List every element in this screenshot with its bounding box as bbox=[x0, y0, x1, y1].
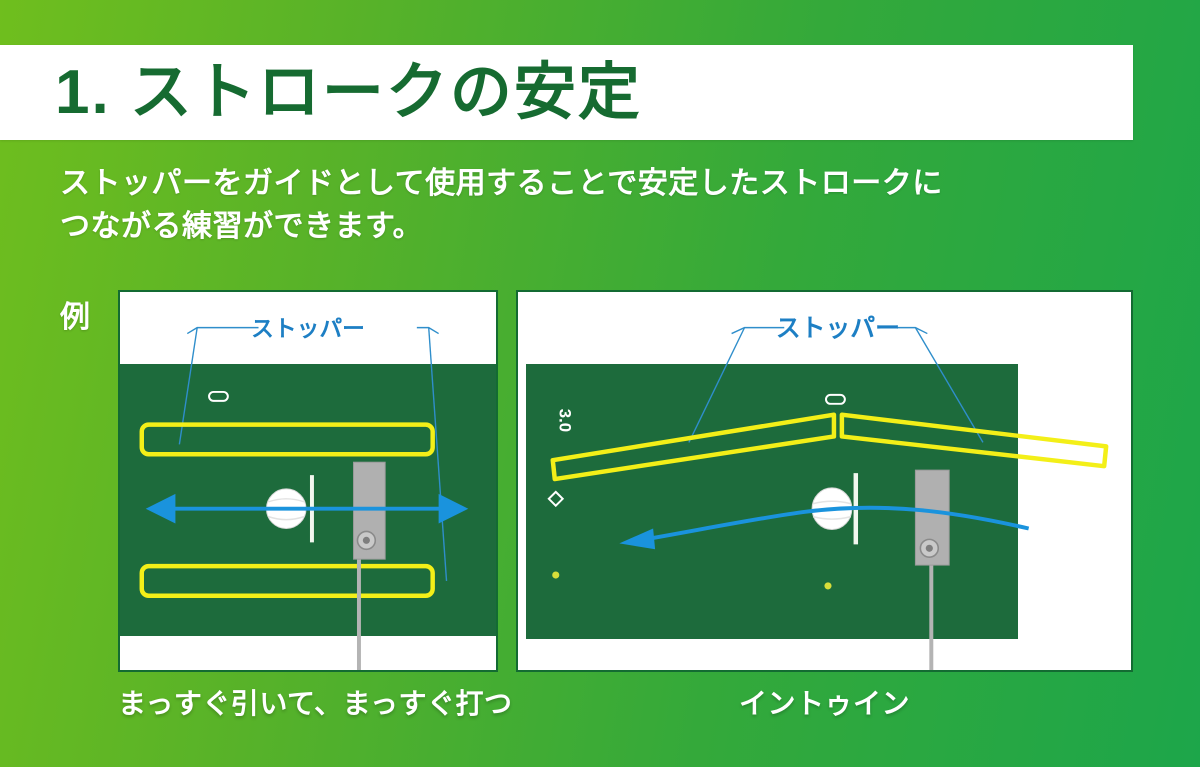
leader-tick-right bbox=[417, 328, 439, 334]
stroke-arrow-left bbox=[146, 494, 469, 524]
arrowhead-right bbox=[439, 494, 469, 524]
subtitle-line-1: ストッパーをガイドとして使用することで安定したストロークに bbox=[60, 163, 1130, 206]
caption-arc: イントゥイン bbox=[516, 682, 1133, 722]
stopper-rail-bottom bbox=[142, 566, 433, 596]
right-diagram-svg: 3.0 bbox=[518, 292, 1131, 670]
arrowhead-left bbox=[146, 494, 176, 524]
diamond-marker-right bbox=[549, 492, 563, 506]
slide-root: 1. ストロークの安定 ストッパーをガイドとして使用することで安定したストローク… bbox=[0, 0, 1200, 767]
page-title: 1. ストロークの安定 bbox=[55, 62, 642, 124]
leader-line-to-top-stopper bbox=[179, 328, 197, 445]
putter-hosel-dot-right bbox=[926, 545, 933, 552]
diagram-panel-straight: ストッパー bbox=[118, 290, 498, 672]
putter-right bbox=[915, 470, 949, 670]
oval-hole-marker-left bbox=[209, 392, 228, 401]
stopper-rail-angled-left bbox=[553, 415, 834, 479]
callout-label-right: ストッパー bbox=[776, 315, 900, 343]
arrowhead-arc bbox=[619, 528, 655, 549]
leader-tick-left bbox=[187, 328, 258, 334]
callout-label-left: ストッパー bbox=[251, 316, 365, 342]
panel-left-inner: ストッパー bbox=[120, 292, 496, 670]
subtitle-line-2: つながる練習ができます。 bbox=[60, 206, 1130, 249]
putter-hosel-dot-left bbox=[363, 537, 370, 544]
putter-shaft-right bbox=[929, 557, 933, 670]
panel-right-inner: 3.0 bbox=[518, 292, 1131, 670]
example-label: 例 bbox=[60, 292, 90, 336]
dot-marker-b bbox=[824, 582, 831, 589]
dot-marker-a bbox=[552, 571, 559, 578]
stopper-rail-top bbox=[142, 425, 433, 455]
caption-straight: まっすぐ引いて、まっすぐ打つ bbox=[118, 682, 498, 722]
title-band: 1. ストロークの安定 bbox=[0, 45, 1133, 140]
distance-marking-right: 3.0 bbox=[556, 409, 575, 432]
oval-hole-marker-right bbox=[826, 395, 845, 404]
left-diagram-svg: ストッパー bbox=[120, 292, 496, 670]
diagram-panel-arc: 3.0 bbox=[516, 290, 1133, 672]
leader-line-to-left-rail bbox=[689, 328, 745, 443]
stopper-rail-angled-right bbox=[842, 415, 1106, 466]
subtitle-text: ストッパーをガイドとして使用することで安定したストロークに つながる練習ができま… bbox=[60, 163, 1130, 248]
